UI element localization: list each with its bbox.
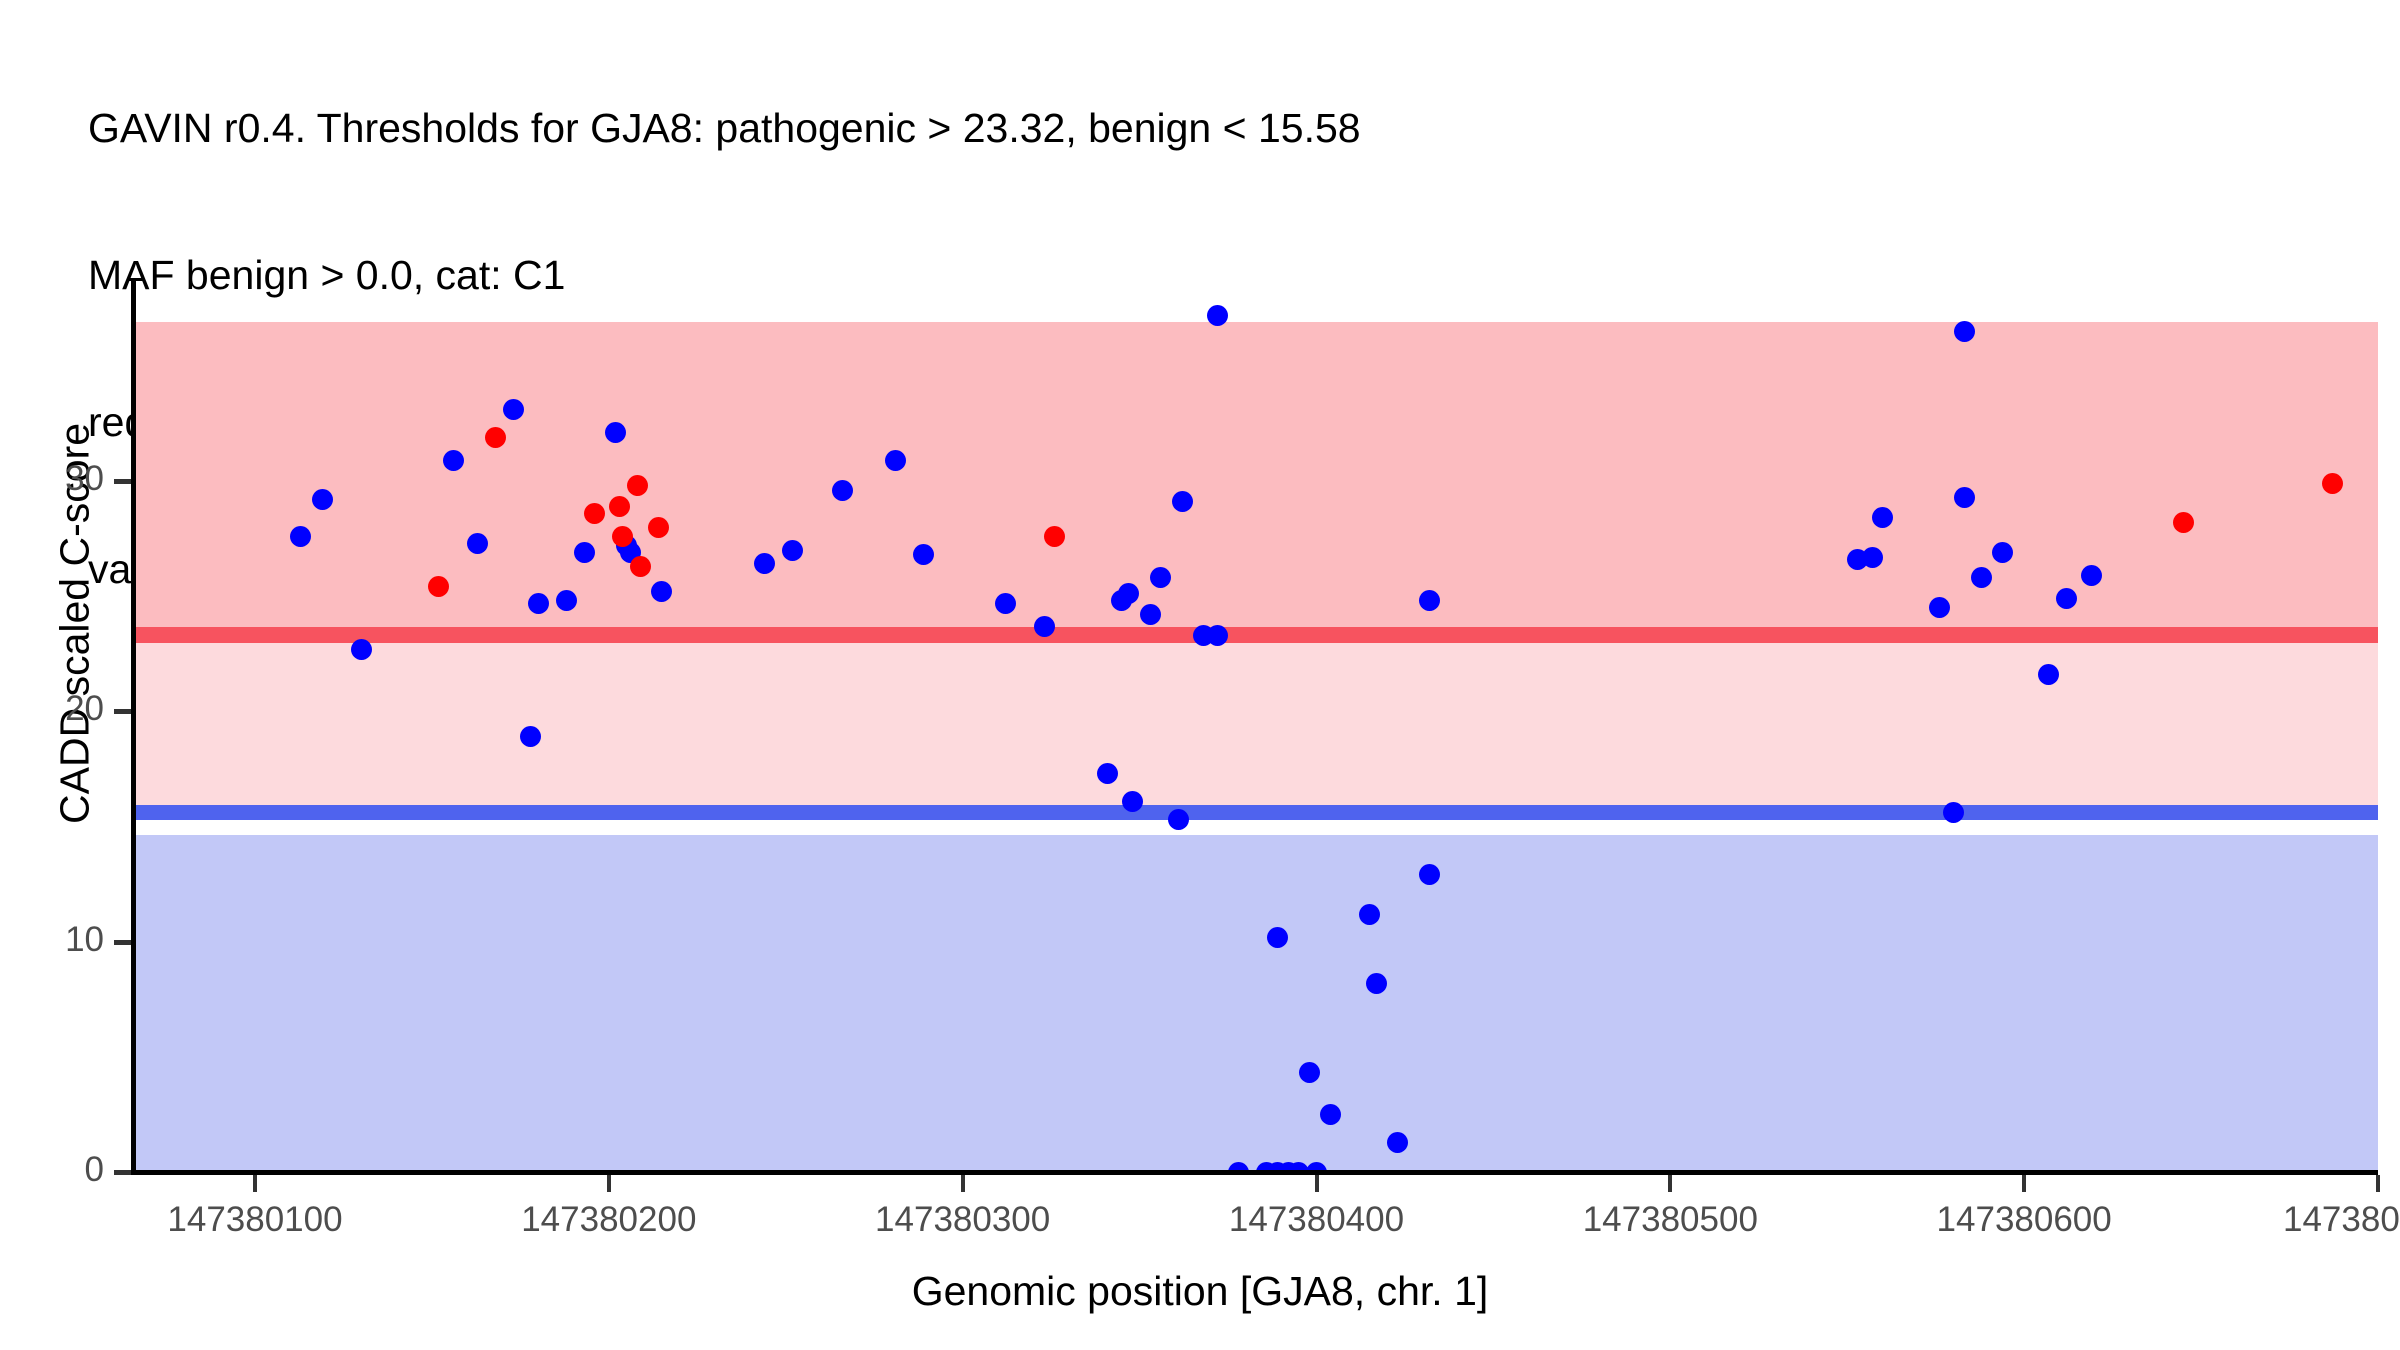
- clinvar-pathogenic-point: [584, 503, 605, 524]
- clinvar-pathogenic-point: [609, 496, 630, 517]
- gnomad-variant-point: [1168, 809, 1189, 830]
- x-axis-line: [131, 1170, 2378, 1175]
- gnomad-variant-point: [1140, 604, 1161, 625]
- plot-panel: [134, 278, 2378, 1172]
- gnomad-variant-point: [1267, 927, 1288, 948]
- x-axis-tick-label: 147380300: [813, 1200, 1113, 1240]
- gnomad-variant-point: [1359, 904, 1380, 925]
- gnomad-variant-point: [885, 450, 906, 471]
- clinvar-pathogenic-point: [648, 517, 669, 538]
- genomewide-fallback-line: [134, 820, 2378, 835]
- x-axis-tick-label: 147380600: [1874, 1200, 2174, 1240]
- y-axis-tick: [114, 940, 131, 945]
- x-axis-tick: [1668, 1175, 1672, 1192]
- clinvar-pathogenic-point: [485, 427, 506, 448]
- y-axis-line: [131, 278, 136, 1174]
- y-axis-tick-label: 30: [0, 459, 104, 499]
- gnomad-variant-point: [1172, 491, 1193, 512]
- gnomad-variant-point: [556, 590, 577, 611]
- gavin-cadd-scatter-plot: GAVIN r0.4. Thresholds for GJA8: pathoge…: [0, 0, 2400, 1350]
- y-axis-title: CADD scaled C-score: [52, 244, 99, 1004]
- gnomad-variant-point: [1122, 791, 1143, 812]
- gnomad-variant-point: [574, 542, 595, 563]
- x-axis-tick: [961, 1175, 965, 1192]
- pathogenic-band: [134, 322, 2378, 627]
- y-axis-tick-label: 20: [0, 689, 104, 729]
- y-axis-tick: [114, 1170, 131, 1175]
- x-axis-tick-label: 147380400: [1167, 1200, 1467, 1240]
- clinvar-pathogenic-point: [2322, 473, 2343, 494]
- pathogenic-threshold-line: [134, 627, 2378, 643]
- gnomad-variant-point: [2056, 588, 2077, 609]
- gnomad-variant-point: [467, 533, 488, 554]
- gnomad-variant-point: [1929, 597, 1950, 618]
- x-axis-title: Genomic position [GJA8, chr. 1]: [0, 1268, 2400, 1315]
- x-axis-tick: [253, 1175, 257, 1192]
- clinvar-pathogenic-point: [2173, 512, 2194, 533]
- benign-threshold-line: [134, 805, 2378, 820]
- gnomad-variant-point: [995, 593, 1016, 614]
- gnomad-variant-point: [1320, 1104, 1341, 1125]
- gnomad-variant-point: [312, 489, 333, 510]
- gnomad-variant-point: [782, 540, 803, 561]
- gnomad-variant-point: [443, 450, 464, 471]
- x-axis-tick-label: 147380100: [105, 1200, 405, 1240]
- clinvar-pathogenic-point: [1044, 526, 1065, 547]
- title-line-1: GAVIN r0.4. Thresholds for GJA8: pathoge…: [88, 104, 2338, 153]
- clinvar-pathogenic-point: [627, 475, 648, 496]
- gnomad-variant-point: [1387, 1132, 1408, 1153]
- gnomad-variant-point: [1862, 547, 1883, 568]
- x-axis-tick: [607, 1175, 611, 1192]
- gnomad-variant-point: [351, 639, 372, 660]
- gnomad-variant-point: [1954, 321, 1975, 342]
- gnomad-variant-point: [503, 399, 524, 420]
- x-axis-tick-label: 147380200: [459, 1200, 759, 1240]
- gnomad-variant-point: [2081, 565, 2102, 586]
- x-axis-tick: [1315, 1175, 1319, 1192]
- gnomad-variant-point: [1366, 973, 1387, 994]
- gnomad-variant-point: [1034, 616, 1055, 637]
- y-axis-tick-label: 0: [0, 1150, 104, 1190]
- y-axis-tick-label: 10: [0, 920, 104, 960]
- gnomad-variant-point: [1207, 625, 1228, 646]
- y-axis-tick: [114, 479, 131, 484]
- gnomad-variant-point: [1943, 802, 1964, 823]
- benign-band: [134, 835, 2378, 1172]
- x-axis-tick-label: 147380500: [1520, 1200, 1820, 1240]
- gnomad-variant-point: [832, 480, 853, 501]
- gnomad-variant-point: [528, 593, 549, 614]
- gnomad-variant-point: [1207, 305, 1228, 326]
- x-axis-tick: [2376, 1175, 2380, 1192]
- clinvar-pathogenic-point: [630, 556, 651, 577]
- y-axis-tick: [114, 709, 131, 714]
- x-axis-tick-label: 1473807: [2283, 1200, 2400, 1240]
- gnomad-variant-point: [1954, 487, 1975, 508]
- x-axis-tick: [2022, 1175, 2026, 1192]
